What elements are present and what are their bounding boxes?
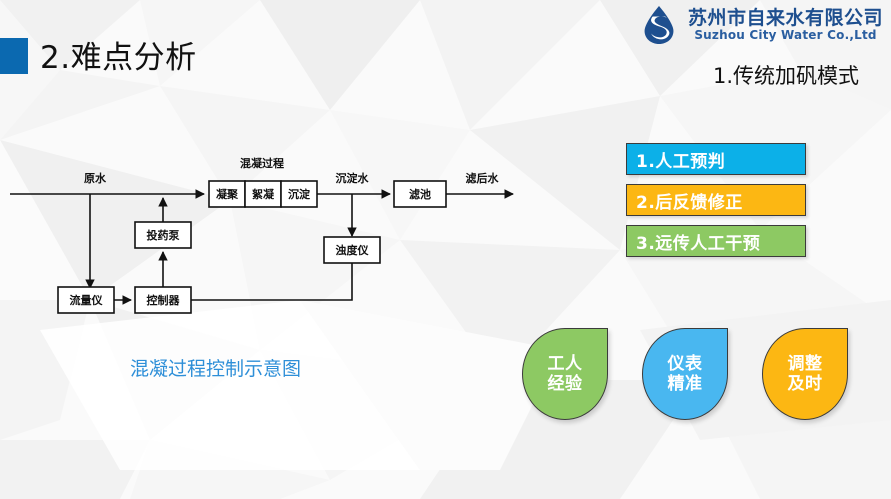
mode-step-3[interactable]: 3.远传人工干预 [626,225,806,257]
box-controller-label: 控制器 [147,293,181,307]
box-turbidity-meter-label: 浊度仪 [336,243,370,257]
mode-step-1[interactable]: 1.人工预判 [626,143,806,175]
factor-droplet-1-line1: 工人 [548,354,583,374]
factor-droplet-2[interactable]: 仪表 精准 [642,328,728,420]
company-logo: 苏州市自来水有限公司 Suzhou City Water Co.,Ltd [638,4,883,46]
logo-text-block: 苏州市自来水有限公司 Suzhou City Water Co.,Ltd [688,9,883,42]
logo-name-cn: 苏州市自来水有限公司 [688,9,883,29]
label-raw-water: 原水 [84,171,107,185]
mode-step-2-label: 2.后反馈修正 [636,188,743,213]
label-coagulation-process: 混凝过程 [240,156,284,170]
process-cell-1-label: 凝聚 [216,187,239,201]
mode-step-1-label: 1.人工预判 [636,147,725,172]
factor-droplet-2-line2: 精准 [668,374,703,394]
factor-droplet-1[interactable]: 工人 经验 [522,328,608,420]
diagram-caption: 混凝过程控制示意图 [130,354,301,381]
slide-canvas: 2.难点分析 苏州市自来水有限公司 Suzhou City Water Co.,… [0,0,891,499]
factor-droplet-3[interactable]: 调整 及时 [762,328,848,420]
factor-droplet-row: 工人 经验 仪表 精准 调整 及时 [522,328,882,428]
title-accent-bar [0,38,28,74]
factor-droplet-2-line1: 仪表 [668,354,703,374]
logo-name-en: Suzhou City Water Co.,Ltd [688,29,883,42]
factor-droplet-1-line2: 经验 [548,374,583,394]
box-dosing-pump-label: 投药泵 [147,228,180,242]
box-flow-meter-label: 流量仪 [70,293,104,307]
factor-droplet-3-line2: 及时 [788,374,823,394]
process-cell-2-label: 絮凝 [252,187,275,201]
mode-step-3-label: 3.远传人工干预 [636,229,760,254]
box-filter-tank-label: 滤池 [409,187,431,201]
page-title: 2.难点分析 [40,32,197,77]
mode-step-list: 1.人工预判 2.后反馈修正 3.远传人工干预 [626,143,806,257]
label-filtered-water: 滤后水 [466,171,500,185]
process-cell-3-label: 沉淀 [288,187,311,201]
coagulation-flow-diagram: 原水 混凝过程 凝聚 絮凝 沉淀 沉淀水 滤池 滤后水 浊度仪 [0,140,520,340]
factor-droplet-3-line1: 调整 [788,354,823,374]
mode-step-2[interactable]: 2.后反馈修正 [626,184,806,216]
section-subheading: 1.传统加矾模式 [713,60,859,90]
label-settled-water: 沉淀水 [336,171,370,185]
water-drop-logo-icon [638,4,680,46]
